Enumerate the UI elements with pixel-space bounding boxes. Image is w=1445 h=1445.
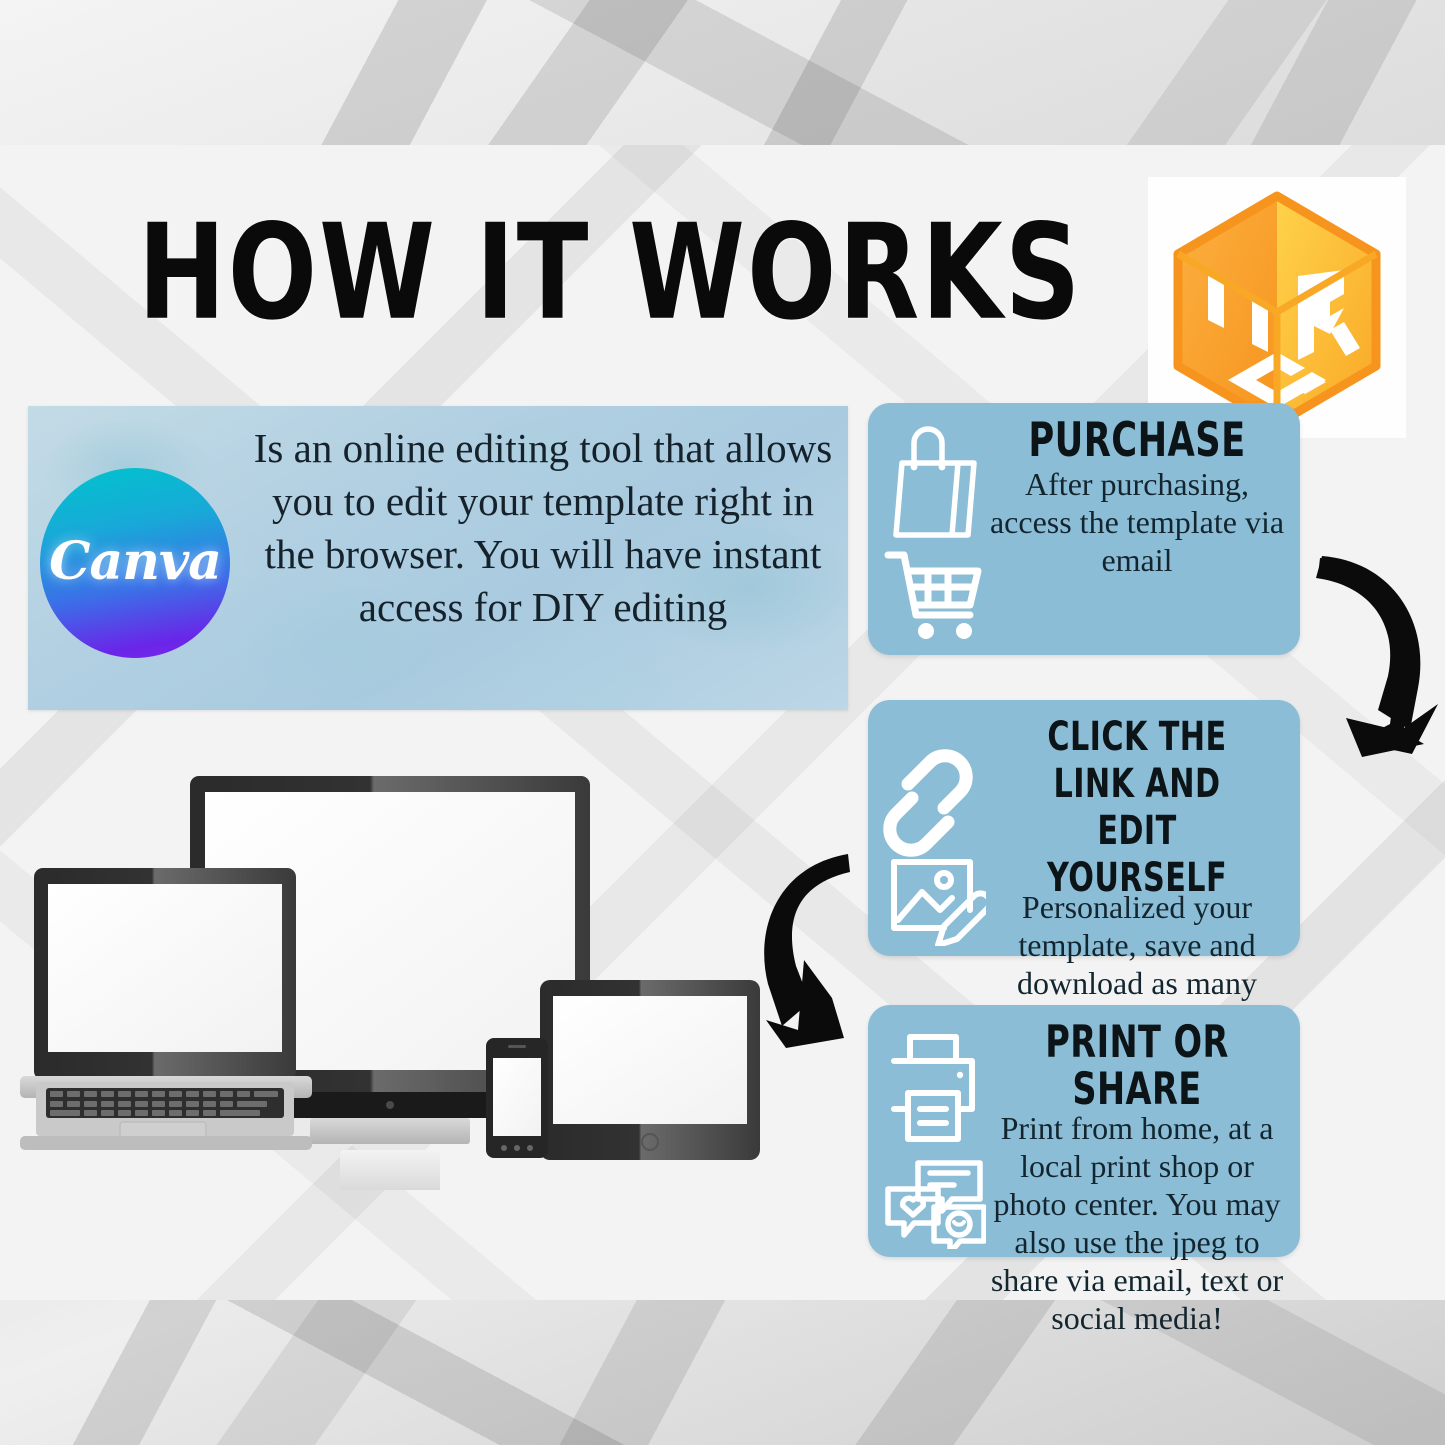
purchase-body: PURCHASE After purchasing, access the te… (986, 417, 1288, 579)
device-mockup-image (20, 770, 790, 1190)
curved-arrow-down-left-icon (1292, 532, 1442, 767)
brand-logo-box (1148, 177, 1406, 438)
tablet (540, 980, 760, 1160)
canva-description: Is an online editing tool that allows yo… (250, 422, 836, 634)
purchase-icons (882, 415, 992, 650)
chat-bubbles-icon (888, 1163, 984, 1249)
shopping-cart-icon (888, 555, 978, 639)
curved-arrow-down-right-icon (752, 842, 878, 1057)
step-card-edit: CLICK THE LINK AND EDIT YOURSELF Persona… (868, 700, 1300, 956)
purchase-title: PURCHASE (1010, 417, 1264, 464)
print-description: Print from home, at a local print shop o… (986, 1109, 1288, 1337)
smartphone (486, 1038, 548, 1158)
printer-icon (894, 1037, 972, 1139)
purchase-description: After purchasing, access the template vi… (986, 465, 1288, 579)
shopping-bag-icon (896, 429, 974, 535)
print-title: PRINT OR SHARE (1010, 1019, 1264, 1113)
page-title: HOW IT WORKS (138, 197, 872, 348)
step-card-print: PRINT OR SHARE Print from home, at a loc… (868, 1005, 1300, 1257)
edit-title: CLICK THE LINK AND EDIT YOURSELF (1010, 714, 1264, 902)
image-edit-icon (894, 862, 986, 945)
canva-banner: Canva Is an online editing tool that all… (28, 406, 848, 710)
canva-logo: Canva (40, 468, 230, 658)
canva-wordmark: Canva (49, 531, 221, 592)
link-chain-icon (890, 756, 966, 850)
hrg-cube-logo (1162, 188, 1392, 428)
print-icons (882, 1017, 992, 1254)
edit-body: CLICK THE LINK AND EDIT YOURSELF Persona… (986, 714, 1288, 1040)
edit-icons (882, 712, 992, 951)
step-card-purchase: PURCHASE After purchasing, access the te… (868, 403, 1300, 655)
print-body: PRINT OR SHARE Print from home, at a loc… (986, 1019, 1288, 1337)
infographic-canvas: HOW IT WORKS (0, 0, 1445, 1445)
laptop (20, 868, 312, 1150)
